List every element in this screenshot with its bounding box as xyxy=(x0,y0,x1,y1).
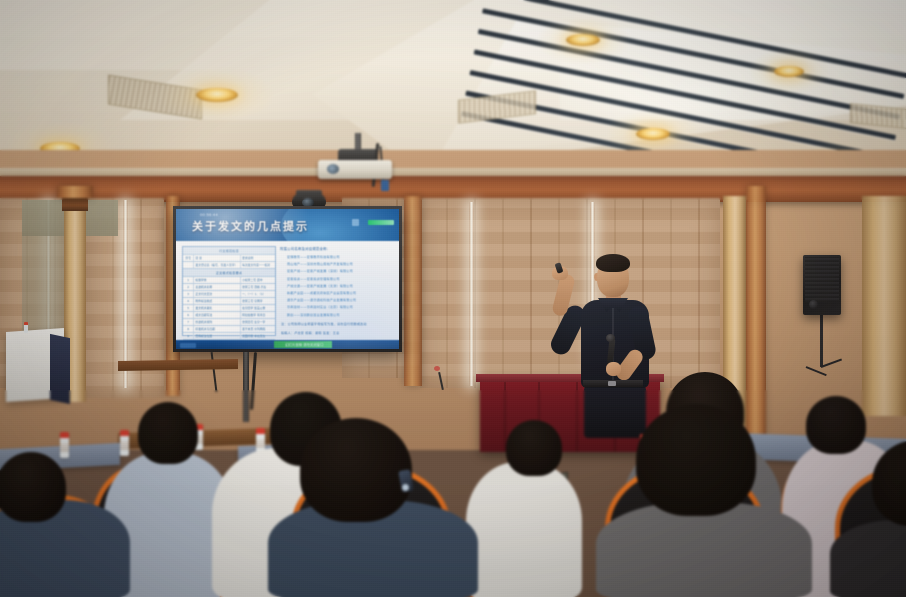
presenter-hair xyxy=(596,254,630,272)
table-cell: 3 xyxy=(183,291,194,297)
table-cell: 一、（一）1. （1） xyxy=(241,291,275,297)
belt-buckle-icon xyxy=(608,381,616,386)
text-block-note: 注：公司简称以全称首字母缩写为准，请勿自行增删或改动 xyxy=(281,321,394,326)
table-cell: 4 xyxy=(183,298,194,304)
table-cell: 每次发文均需一一核对 xyxy=(241,262,275,268)
attendee-head xyxy=(636,404,756,516)
table-row: 1标题字体小标宋二号 居中 xyxy=(183,277,275,284)
table-cell: 要求说明 xyxy=(241,255,275,261)
table-row: 3正文行文层次一、（一）1. （1） xyxy=(183,291,275,298)
blind-light-gap xyxy=(469,202,474,386)
text-block-line: 新都产业园——成都天府新区产业运营有限公司 xyxy=(287,290,394,295)
slide-header: 00:56:44 关于发文的几点提示 xyxy=(176,209,399,241)
slide-text-block: 附属公司名称及对应规范全称：宏博教育——宏博教育科技有限公司南山地产——深圳市南… xyxy=(280,246,394,334)
text-block-line: 鹏创——深圳鹏创置业发展有限公司 xyxy=(287,312,394,317)
table-band: 正文格式检查要点 xyxy=(183,269,275,277)
table-cell: 附件标注格式 xyxy=(194,298,241,304)
table-cell: 仿宋四号 左空一字 xyxy=(241,319,275,325)
text-block-line: 南山地产——深圳市南山房地产开发有限公司 xyxy=(287,261,394,266)
slide-status-text: 幻灯片放映 请勿关闭窗口 xyxy=(276,342,332,348)
text-block-line: 通华产业园——通华通和科技产业发展有限公司 xyxy=(287,297,394,302)
table-cell: 6 xyxy=(183,312,194,318)
slide-footer: 幻灯片放映 请勿关闭窗口 xyxy=(176,340,399,349)
side-table xyxy=(118,359,238,371)
table-cell: 印发机关与日期 xyxy=(194,326,241,332)
table-cell: 双面印刷 单右双左 xyxy=(241,333,275,339)
water-bottle xyxy=(24,322,28,333)
blind-light-gap xyxy=(123,200,128,388)
table-row: 7抄送机关排列仿宋四号 左空一字 xyxy=(183,319,275,326)
table-cell: 发文机关署名 xyxy=(194,305,241,311)
table-row: 6成文日期写法阿拉伯数字 年月日 xyxy=(183,312,275,319)
table-row: 4附件标注格式仿宋三号 空两字 xyxy=(183,298,275,305)
table-cell: 9 xyxy=(183,333,194,339)
recessed-downlight xyxy=(774,66,804,77)
table-cell: 小标宋二号 居中 xyxy=(241,277,275,283)
text-block-line: 宏嘉投资——宏嘉投资管理有限公司 xyxy=(287,276,394,281)
table-cell: 仿宋三号 顶格 齐左 xyxy=(241,284,275,290)
attendee-torso xyxy=(466,462,582,597)
table-cell: 2 xyxy=(183,284,194,290)
column-capital xyxy=(62,196,88,211)
table-cell: 成文日期写法 xyxy=(194,312,241,318)
table-row: 9页码标注位置双面印刷 单右双左 xyxy=(183,333,275,340)
table-cell: 置于末页 分列两端 xyxy=(241,326,275,332)
desk-microphone-icon xyxy=(434,366,440,371)
slide-table: 行文规范检查序号项 目要求说明发文登记表（编号、签发人签字）每次发文均需一一核对… xyxy=(182,246,276,336)
table-row: 2主送机关名称仿宋三号 顶格 齐左 xyxy=(183,284,275,291)
table-cell: 5 xyxy=(183,305,194,311)
text-block-line: 华商建材——华商建材实业（北京）有限公司 xyxy=(287,304,394,309)
water-bottle[interactable] xyxy=(120,430,129,456)
table-cell: 右空四字 加盖公章 xyxy=(241,305,275,311)
slide-logo xyxy=(368,220,394,225)
table-cell: 1 xyxy=(183,277,194,283)
table-band: 行文规范检查 xyxy=(183,247,275,255)
presenter-trousers xyxy=(584,386,646,438)
conference-room-photo: 00:56:44 关于发文的几点提示 行文规范检查序号项 目要求说明发文登记表（… xyxy=(0,0,906,597)
table-cell: 8 xyxy=(183,326,194,332)
table-cell: 项 目 xyxy=(194,255,241,261)
table-cell: 标题字体 xyxy=(194,277,241,283)
table-cell: 阿拉伯数字 年月日 xyxy=(241,312,275,318)
table-cell: 正文行文层次 xyxy=(194,291,241,297)
projector-connector xyxy=(381,180,389,191)
screen-stand xyxy=(243,352,249,422)
table-row: 5发文机关署名右空四字 加盖公章 xyxy=(183,305,275,312)
table-cell: 页码标注位置 xyxy=(194,333,241,339)
recessed-downlight xyxy=(566,34,600,46)
bottle-label xyxy=(120,441,129,450)
attendee-head xyxy=(138,402,198,464)
attendee-head xyxy=(806,396,866,454)
table-header-row: 序号项 目要求说明 xyxy=(183,255,275,262)
projection-screen[interactable]: 00:56:44 关于发文的几点提示 行文规范检查序号项 目要求说明发文登记表（… xyxy=(176,209,399,349)
column-top-trim xyxy=(57,186,93,198)
text-block-line: 产城交通——宏嘉产城发展（天津）有限公司 xyxy=(287,283,394,288)
bottle-label xyxy=(256,439,265,448)
table-cell: 序号 xyxy=(183,255,194,261)
recessed-downlight xyxy=(196,88,238,102)
presenter-hand xyxy=(606,362,621,376)
table-cell: 主送机关名称 xyxy=(194,284,241,290)
attendee-torso xyxy=(596,502,812,597)
text-block-note: 拟稿人：卢志安 核稿：梁晓 签发：王总 xyxy=(281,330,394,335)
slide-body: 行文规范检查序号项 目要求说明发文登记表（编号、签发人签字）每次发文均需一一核对… xyxy=(176,241,399,340)
water-bottle[interactable] xyxy=(60,432,69,458)
text-block-heading: 附属公司名称及对应规范全称： xyxy=(280,246,394,251)
table-row: 8印发机关与日期置于末页 分列两端 xyxy=(183,326,275,333)
table-row: 发文登记表（编号、签发人签字）每次发文均需一一核对 xyxy=(183,262,275,269)
wood-column xyxy=(746,186,766,436)
speaker-stand xyxy=(820,315,823,367)
presenter xyxy=(544,252,664,432)
wood-column xyxy=(404,196,422,386)
microphone-capsule-icon xyxy=(606,334,615,342)
bottle-label xyxy=(60,443,69,452)
text-block-line: 宏嘉产城——宏嘉产城发展（深圳）有限公司 xyxy=(287,268,394,273)
table-cell: 7 xyxy=(183,319,194,325)
text-block-line: 宏博教育——宏博教育科技有限公司 xyxy=(287,254,394,259)
table-cell: 发文登记表（编号、签发人签字） xyxy=(194,262,241,268)
lectern-panel xyxy=(50,334,70,404)
phone-reflection xyxy=(402,484,409,491)
slide-badge-icon xyxy=(352,219,359,226)
projector-lens-icon xyxy=(327,164,339,174)
slide-footer-tag xyxy=(180,343,196,348)
table-cell: 仿宋三号 空两字 xyxy=(241,298,275,304)
speaker-grille xyxy=(805,257,839,302)
table-cell xyxy=(183,262,194,268)
marble-column xyxy=(862,196,906,416)
slide-title: 关于发文的几点提示 xyxy=(192,218,309,234)
recessed-downlight xyxy=(636,128,670,140)
attendee-head xyxy=(0,452,66,522)
speaker-woofer-icon xyxy=(809,300,818,309)
attendee-head xyxy=(506,420,562,476)
slide-timestamp: 00:56:44 xyxy=(200,212,218,217)
attendee-head xyxy=(300,418,412,522)
table-cell: 抄送机关排列 xyxy=(194,319,241,325)
